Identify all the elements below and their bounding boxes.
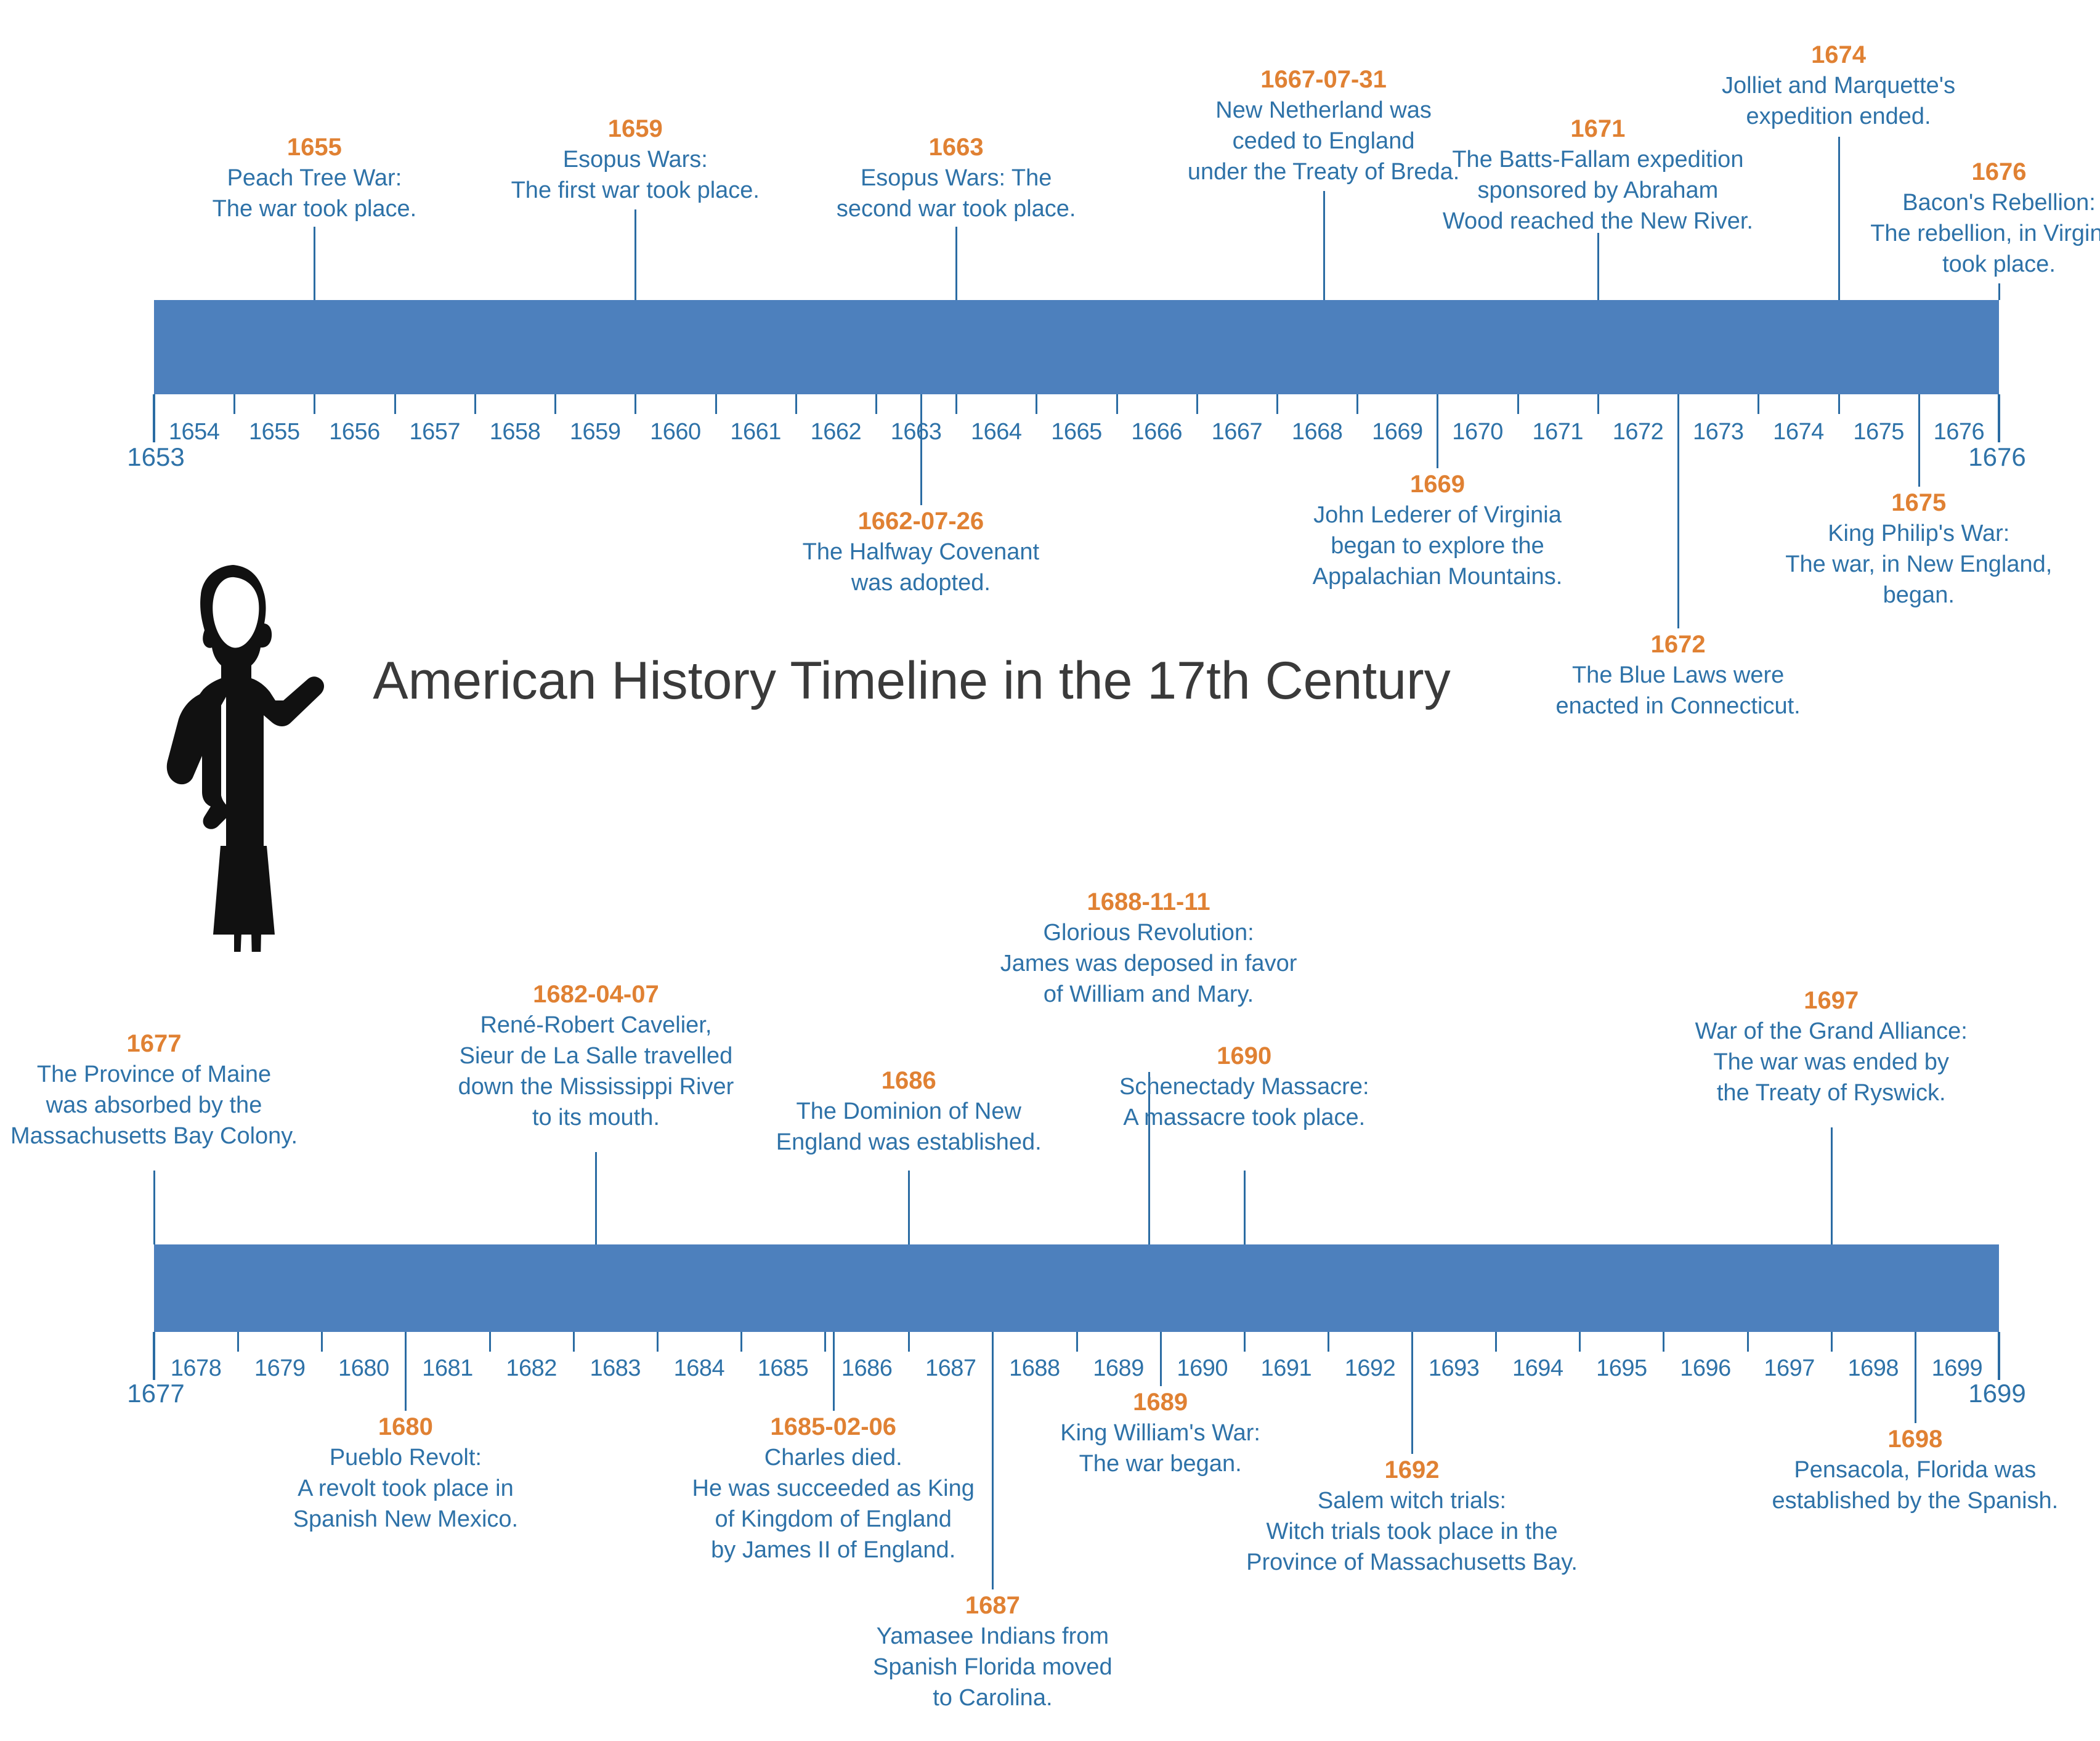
event-connector-line	[314, 227, 315, 300]
event-connector-line	[1831, 1127, 1833, 1244]
axis-tick	[573, 1332, 575, 1352]
axis-tick	[1076, 1332, 1078, 1352]
event-description: The Halfway Covenant was adopted.	[785, 537, 1056, 598]
event-description: Pensacola, Florida was established by th…	[1752, 1455, 2078, 1516]
axis-tick-label: 1675	[1853, 419, 1904, 445]
event-year: 1689	[1037, 1387, 1284, 1418]
timeline-event[interactable]: 1671The Batts-Fallam expedition sponsore…	[1425, 114, 1770, 237]
event-description: Glorious Revolution: James was deposed i…	[967, 917, 1331, 1010]
timeline-event[interactable]: 1680Pueblo Revolt: A revolt took place i…	[273, 1412, 538, 1535]
axis-tick-label: 1686	[841, 1355, 893, 1382]
event-connector-line	[1160, 1332, 1162, 1386]
event-connector-line	[1597, 233, 1599, 300]
timeline-event[interactable]: 1687Yamasee Indians from Spanish Florida…	[854, 1591, 1131, 1713]
axis-tick-label: 1671	[1533, 419, 1584, 445]
axis-tick	[1831, 1332, 1833, 1352]
axis-tick-label: 1680	[338, 1355, 389, 1382]
axis-tick	[474, 394, 476, 414]
event-year: 1663	[824, 132, 1089, 163]
timeline-event[interactable]: 1662-07-26The Halfway Covenant was adopt…	[785, 506, 1056, 598]
axis-tick-label: 1697	[1764, 1355, 1815, 1382]
event-year: 1688-11-11	[967, 887, 1331, 917]
timeline-event[interactable]: 1692Salem witch trials: Witch trials too…	[1224, 1455, 1600, 1578]
event-description: Jolliet and Marquette's expedition ended…	[1697, 70, 1980, 132]
event-description: The Dominion of New England was establis…	[764, 1096, 1053, 1158]
event-description: Charles died. He was succeeded as King o…	[692, 1442, 975, 1566]
event-year: 1686	[764, 1066, 1053, 1096]
axis-tick	[394, 394, 396, 414]
axis-edge-tick	[153, 1332, 155, 1380]
axis-tick	[1356, 394, 1358, 414]
axis-tick-label: 1683	[590, 1355, 641, 1382]
axis-tick-label: 1690	[1177, 1355, 1228, 1382]
axis-tick	[321, 1332, 323, 1352]
event-connector-line	[405, 1332, 407, 1411]
axis-tick-label: 1682	[506, 1355, 557, 1382]
event-connector-line	[1323, 191, 1325, 300]
event-description: Esopus Wars: The second war took place.	[824, 163, 1089, 224]
axis-tick	[1244, 1332, 1246, 1352]
axis-tick-label: 1685	[758, 1355, 809, 1382]
event-connector-line	[908, 1171, 910, 1244]
event-description: Salem witch trials: Witch trials took pl…	[1224, 1485, 1600, 1578]
event-connector-line	[1998, 283, 2000, 300]
axis-tick-label: 1678	[171, 1355, 222, 1382]
axis-tick	[1663, 1332, 1664, 1352]
event-connector-line	[955, 227, 957, 300]
axis-tick-label: 1662	[811, 419, 862, 445]
event-connector-line	[920, 394, 922, 505]
event-year: 1674	[1697, 40, 1980, 70]
event-connector-line	[1244, 1171, 1246, 1244]
axis-tick	[1597, 394, 1599, 414]
event-connector-line	[1838, 137, 1840, 300]
timeline-band	[154, 300, 1999, 394]
event-description: Pueblo Revolt: A revolt took place in Sp…	[273, 1442, 538, 1535]
event-description: Esopus Wars: The first war took place.	[490, 144, 780, 206]
axis-tick-label: 1656	[329, 419, 380, 445]
event-description: Peach Tree War: The war took place.	[185, 163, 444, 224]
event-connector-line	[1411, 1332, 1413, 1454]
axis-tick-label: 1660	[650, 419, 701, 445]
axis-tick-label: 1657	[409, 419, 460, 445]
axis-tick	[1757, 394, 1759, 414]
axis-tick-label: 1688	[1009, 1355, 1060, 1382]
axis-tick	[233, 394, 235, 414]
axis-tick-label: 1665	[1051, 419, 1102, 445]
event-connector-line	[833, 1332, 835, 1411]
axis-tick-label: 1687	[925, 1355, 976, 1382]
event-year: 1680	[273, 1412, 538, 1442]
event-year: 1692	[1224, 1455, 1600, 1485]
timeline-event[interactable]: 1663Esopus Wars: The second war took pla…	[824, 132, 1089, 224]
axis-tick	[1495, 1332, 1497, 1352]
timeline-event[interactable]: 1686The Dominion of New England was esta…	[764, 1066, 1053, 1158]
axis-tick-label: 1694	[1512, 1355, 1563, 1382]
event-year: 1662-07-26	[785, 506, 1056, 537]
event-year: 1675	[1762, 488, 2076, 518]
axis-tick	[740, 1332, 742, 1352]
event-connector-line	[1677, 394, 1679, 628]
axis-tick-label: 1695	[1596, 1355, 1647, 1382]
event-description: Schenectady Massacre: A massacre took pl…	[1100, 1071, 1389, 1133]
event-year: 1687	[854, 1591, 1131, 1621]
event-year: 1659	[490, 114, 780, 144]
event-description: King Philip's War: The war, in New Engla…	[1762, 518, 2076, 611]
timeline-event[interactable]: 1659Esopus Wars: The first war took plac…	[490, 114, 780, 206]
axis-tick-label: 1693	[1429, 1355, 1480, 1382]
event-description: René-Robert Cavelier, Sieur de La Salle …	[436, 1010, 756, 1134]
timeline-event[interactable]: 1682-04-07René-Robert Cavelier, Sieur de…	[436, 980, 756, 1133]
event-year: 1655	[185, 132, 444, 163]
axis-tick	[1328, 1332, 1329, 1352]
axis-end-label: 1676	[1968, 442, 2025, 472]
axis-tick	[955, 394, 957, 414]
timeline-event[interactable]: 1672The Blue Laws were enacted in Connec…	[1536, 630, 1820, 721]
event-connector-line	[992, 1332, 994, 1589]
axis-tick	[1747, 1332, 1749, 1352]
axis-tick-label: 1658	[490, 419, 541, 445]
axis-tick	[657, 1332, 659, 1352]
event-connector-line	[1915, 1332, 1916, 1423]
axis-tick-label: 1674	[1773, 419, 1824, 445]
axis-tick-label: 1667	[1212, 419, 1263, 445]
axis-tick-label: 1698	[1848, 1355, 1899, 1382]
timeline-event[interactable]: 1677The Province of Maine was absorbed b…	[0, 1029, 320, 1151]
axis-tick-label: 1664	[971, 419, 1022, 445]
axis-tick	[489, 1332, 491, 1352]
timeline-event[interactable]: 1675King Philip's War: The war, in New E…	[1762, 488, 2076, 611]
event-year: 1672	[1536, 630, 1820, 660]
axis-tick	[795, 394, 797, 414]
axis-tick-label: 1689	[1093, 1355, 1144, 1382]
event-connector-line	[634, 209, 636, 300]
event-connector-line	[153, 1171, 155, 1244]
axis-tick	[1998, 394, 2000, 414]
axis-tick-label: 1670	[1452, 419, 1503, 445]
axis-tick-label: 1661	[730, 419, 781, 445]
axis-tick	[1196, 394, 1198, 414]
axis-tick-label: 1679	[254, 1355, 306, 1382]
timeline-event[interactable]: 1690Schenectady Massacre: A massacre too…	[1100, 1041, 1389, 1133]
event-description: Bacon's Rebellion: The rebellion, in Vir…	[1863, 187, 2100, 280]
axis-tick-label: 1672	[1613, 419, 1664, 445]
axis-tick	[634, 394, 636, 414]
timeline-event[interactable]: 1676Bacon's Rebellion: The rebellion, in…	[1863, 157, 2100, 280]
event-connector-line	[1437, 394, 1438, 468]
page-title: American History Timeline in the 17th Ce…	[370, 647, 1454, 715]
axis-tick	[1838, 394, 1840, 414]
axis-tick-label: 1669	[1372, 419, 1423, 445]
axis-tick	[1998, 1332, 2000, 1352]
axis-end-label: 1699	[1968, 1379, 2025, 1408]
axis-tick	[1116, 394, 1118, 414]
axis-tick	[554, 394, 556, 414]
axis-tick-label: 1681	[422, 1355, 473, 1382]
axis-tick	[1036, 394, 1037, 414]
event-year: 1667-07-31	[1170, 65, 1478, 95]
infographic-canvas: 1653167616541655165616571658165916601661…	[0, 0, 2100, 1741]
axis-tick-label: 1659	[570, 419, 621, 445]
event-year: 1682-04-07	[436, 980, 756, 1010]
event-connector-line	[1918, 394, 1920, 487]
axis-tick-label: 1655	[249, 419, 300, 445]
axis-tick-label: 1676	[1934, 419, 1985, 445]
event-year: 1669	[1289, 469, 1585, 500]
axis-edge-tick	[153, 394, 155, 442]
timeline-band	[154, 1244, 1999, 1332]
event-year: 1685-02-06	[692, 1412, 975, 1442]
timeline-event[interactable]: 1697War of the Grand Alliance: The war w…	[1668, 986, 1995, 1108]
axis-tick-label: 1668	[1292, 419, 1343, 445]
event-description: Yamasee Indians from Spanish Florida mov…	[854, 1621, 1131, 1713]
event-year: 1677	[0, 1029, 320, 1059]
event-description: The Batts-Fallam expedition sponsored by…	[1425, 144, 1770, 237]
axis-tick	[875, 394, 877, 414]
businesswoman-presenter-silhouette	[140, 558, 344, 952]
event-connector-line	[595, 1152, 597, 1244]
timeline-event[interactable]: 1688-11-11Glorious Revolution: James was…	[967, 887, 1331, 1010]
axis-tick-label: 1654	[169, 419, 220, 445]
axis-tick	[824, 1332, 826, 1352]
timeline-event[interactable]: 1685-02-06Charles died. He was succeeded…	[692, 1412, 975, 1565]
axis-tick	[314, 394, 315, 414]
axis-start-label: 1677	[127, 1379, 184, 1408]
event-description: The Blue Laws were enacted in Connecticu…	[1536, 660, 1820, 721]
timeline-event[interactable]: 1655Peach Tree War: The war took place.	[185, 132, 444, 224]
axis-tick-label: 1696	[1680, 1355, 1731, 1382]
event-year: 1697	[1668, 986, 1995, 1016]
axis-tick-label: 1692	[1345, 1355, 1396, 1382]
timeline-event[interactable]: 1698Pensacola, Florida was established b…	[1752, 1424, 2078, 1516]
event-year: 1676	[1863, 157, 2100, 187]
timeline-event[interactable]: 1674Jolliet and Marquette's expedition e…	[1697, 40, 1980, 132]
axis-tick	[715, 394, 717, 414]
axis-tick-label: 1663	[891, 419, 942, 445]
axis-start-label: 1653	[127, 442, 184, 472]
event-description: John Lederer of Virginia began to explor…	[1289, 500, 1585, 592]
axis-tick	[908, 1332, 910, 1352]
axis-tick	[237, 1332, 239, 1352]
axis-tick-label: 1699	[1932, 1355, 1983, 1382]
timeline-event[interactable]: 1669John Lederer of Virginia began to ex…	[1289, 469, 1585, 592]
axis-tick-label: 1666	[1131, 419, 1182, 445]
event-description: War of the Grand Alliance: The war was e…	[1668, 1016, 1995, 1108]
event-year: 1690	[1100, 1041, 1389, 1071]
event-description: The Province of Maine was absorbed by th…	[0, 1059, 320, 1151]
axis-tick-label: 1691	[1261, 1355, 1312, 1382]
axis-tick-label: 1673	[1693, 419, 1744, 445]
axis-tick	[1517, 394, 1519, 414]
axis-tick	[1579, 1332, 1581, 1352]
axis-tick	[1276, 394, 1278, 414]
event-year: 1698	[1752, 1424, 2078, 1455]
axis-tick-label: 1684	[674, 1355, 725, 1382]
